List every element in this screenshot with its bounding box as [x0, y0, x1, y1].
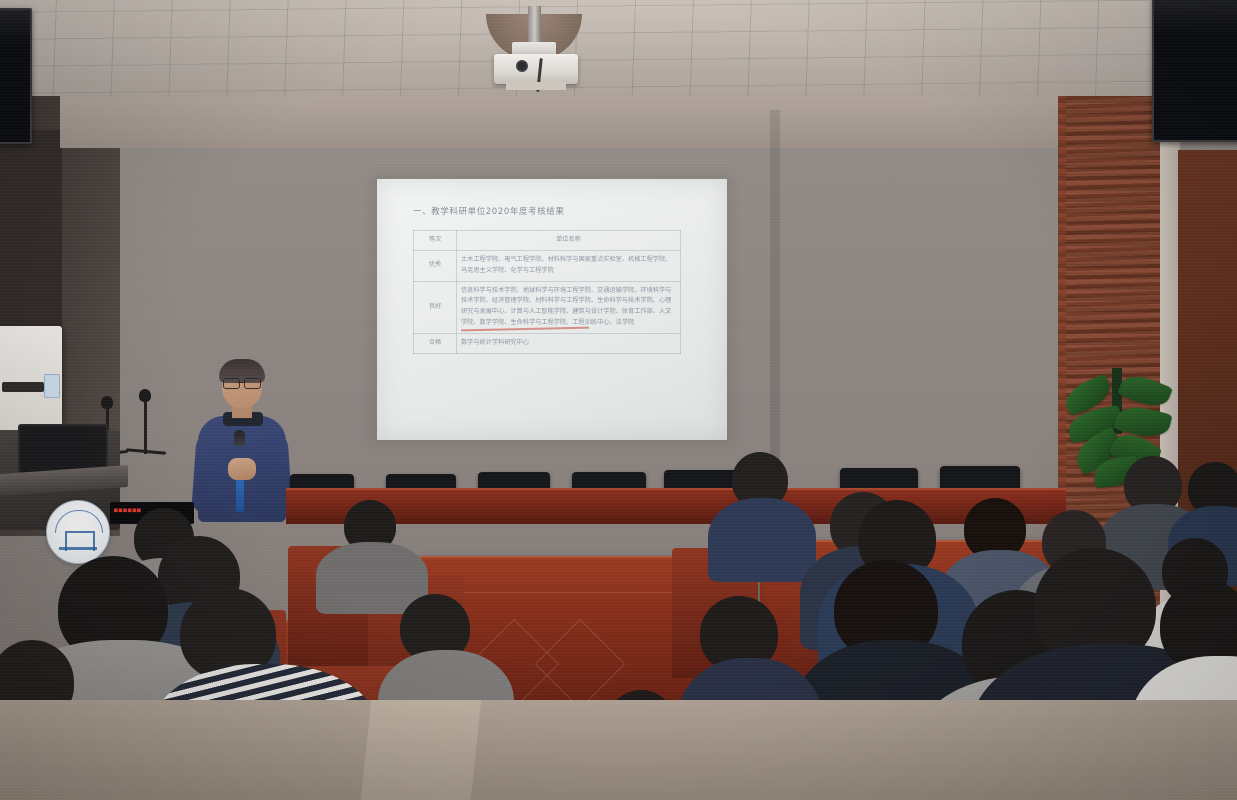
projector-lens-icon — [516, 60, 528, 72]
ceiling-projector — [494, 54, 578, 84]
units-text: 信息科学与技术学院、地球科学与环境工程学院、交通运输学院、环境科学与技术学院、经… — [461, 287, 671, 327]
mic-capsule-icon — [101, 396, 113, 409]
wall-seam — [770, 110, 780, 490]
slide-results-table: 等次 单位名称 优秀 土木工程学院、电气工程学院、材料科学与国家重点实验室、机械… — [413, 230, 681, 354]
column-header-rank: 等次 — [414, 231, 457, 251]
projector-base-plate — [506, 82, 566, 90]
audience-shoulders — [708, 498, 816, 582]
plant-leaf — [1117, 370, 1173, 413]
floor — [0, 700, 1237, 800]
screen-glare — [1154, 0, 1237, 35]
head-table — [286, 488, 1066, 524]
rank-cell: 良好 — [414, 281, 457, 333]
units-cell: 数学与统计学科研究中心 — [457, 333, 681, 353]
mic-capsule-icon — [139, 389, 151, 402]
table-row: 优秀 土木工程学院、电气工程学院、材料科学与国家重点实验室、机械工程学院、马克思… — [414, 250, 681, 281]
table-header-row: 等次 单位名称 — [414, 231, 681, 251]
center-aisle — [361, 700, 482, 800]
microphone-head — [234, 430, 245, 446]
emblem-arc — [55, 510, 103, 533]
conference-room-photo: 一、教学科研单位2020年度考核结果 等次 单位名称 优秀 土木工程学院、电气工… — [0, 0, 1237, 800]
wall-display-right[interactable] — [1152, 0, 1237, 142]
units-cell: 土木工程学院、电气工程学院、材料科学与国家重点实验室、机械工程学院、马克思主义学… — [457, 250, 681, 281]
rank-cell: 合格 — [414, 333, 457, 353]
slide-title: 一、教学科研单位2020年度考核结果 — [413, 205, 703, 217]
glasses-bridge — [237, 382, 245, 383]
presenter — [190, 362, 294, 522]
mic-stand-pole — [144, 396, 147, 454]
column-header-unit: 单位名称 — [457, 231, 681, 251]
led-display-text: ■■■■■■ — [114, 507, 142, 514]
rank-cell: 优秀 — [414, 250, 457, 281]
presenter-hands — [228, 458, 256, 480]
projection-screen: 一、教学科研单位2020年度考核结果 等次 单位名称 优秀 土木工程学院、电气工… — [377, 179, 727, 440]
table-row: 良好 信息科学与技术学院、地球科学与环境工程学院、交通运输学院、环境科学与技术学… — [414, 281, 681, 333]
screen-glare — [0, 10, 30, 44]
air-conditioner-label — [44, 374, 60, 398]
table-row: 合格 数学与统计学科研究中心 — [414, 333, 681, 353]
wall-display-left[interactable] — [0, 8, 32, 144]
air-conditioner-vent — [2, 382, 44, 392]
red-underline-annotation — [461, 326, 589, 330]
wall-soffit-beam — [60, 96, 1160, 148]
university-seal-emblem — [46, 500, 110, 564]
emblem-base-line — [59, 547, 97, 550]
units-cell: 信息科学与技术学院、地球科学与环境工程学院、交通运输学院、环境科学与技术学院、经… — [457, 281, 681, 333]
